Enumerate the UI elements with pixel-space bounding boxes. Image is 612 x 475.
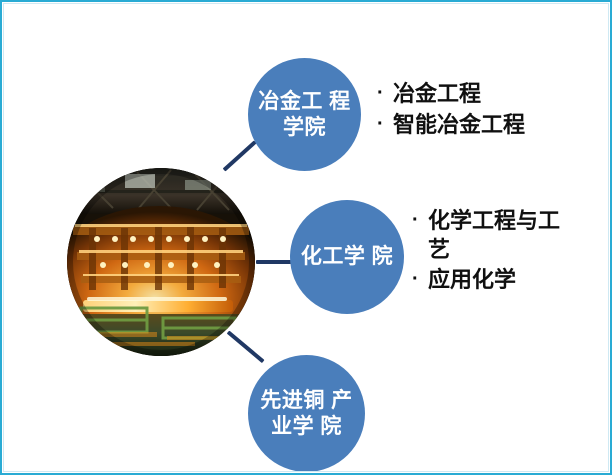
bullet-marker-icon: · (412, 266, 428, 292)
bullet-marker-icon: · (377, 80, 393, 106)
bullet-item: · 智能冶金工程 (377, 111, 602, 140)
connector-line-metallurgy (223, 140, 257, 171)
node-label-copper: 先进铜 产业学 院 (248, 388, 365, 439)
connector-line-copper (227, 330, 265, 363)
bullet-item: · 化学工程与工 艺 (412, 207, 607, 264)
steel-rolling-mill-photo (67, 168, 255, 356)
bullet-marker-icon: · (412, 207, 428, 233)
node-label-metallurgy: 冶金工 程学院 (248, 89, 361, 140)
slide-canvas: 冶金工 程学院 化工学 院 先进铜 产业学 院 · 冶金工程 · 智能冶金工程 … (0, 0, 612, 475)
node-circle-copper[interactable]: 先进铜 产业学 院 (248, 355, 365, 472)
bullet-list-metallurgy: · 冶金工程 · 智能冶金工程 (377, 80, 602, 141)
node-circle-metallurgy[interactable]: 冶金工 程学院 (248, 58, 361, 171)
bullet-item: · 冶金工程 (377, 80, 602, 109)
node-circle-chemical[interactable]: 化工学 院 (290, 200, 404, 314)
bullet-text: 应用化学 (428, 266, 607, 295)
connector-line-chemical (256, 260, 292, 264)
bullet-text: 冶金工程 (393, 80, 602, 109)
node-label-chemical: 化工学 院 (291, 244, 403, 270)
bullet-list-chemical: · 化学工程与工 艺 · 应用化学 (412, 207, 607, 297)
bullet-text: 智能冶金工程 (393, 111, 602, 140)
bullet-text: 化学工程与工 艺 (428, 207, 607, 264)
bullet-marker-icon: · (377, 111, 393, 137)
bullet-item: · 应用化学 (412, 266, 607, 295)
